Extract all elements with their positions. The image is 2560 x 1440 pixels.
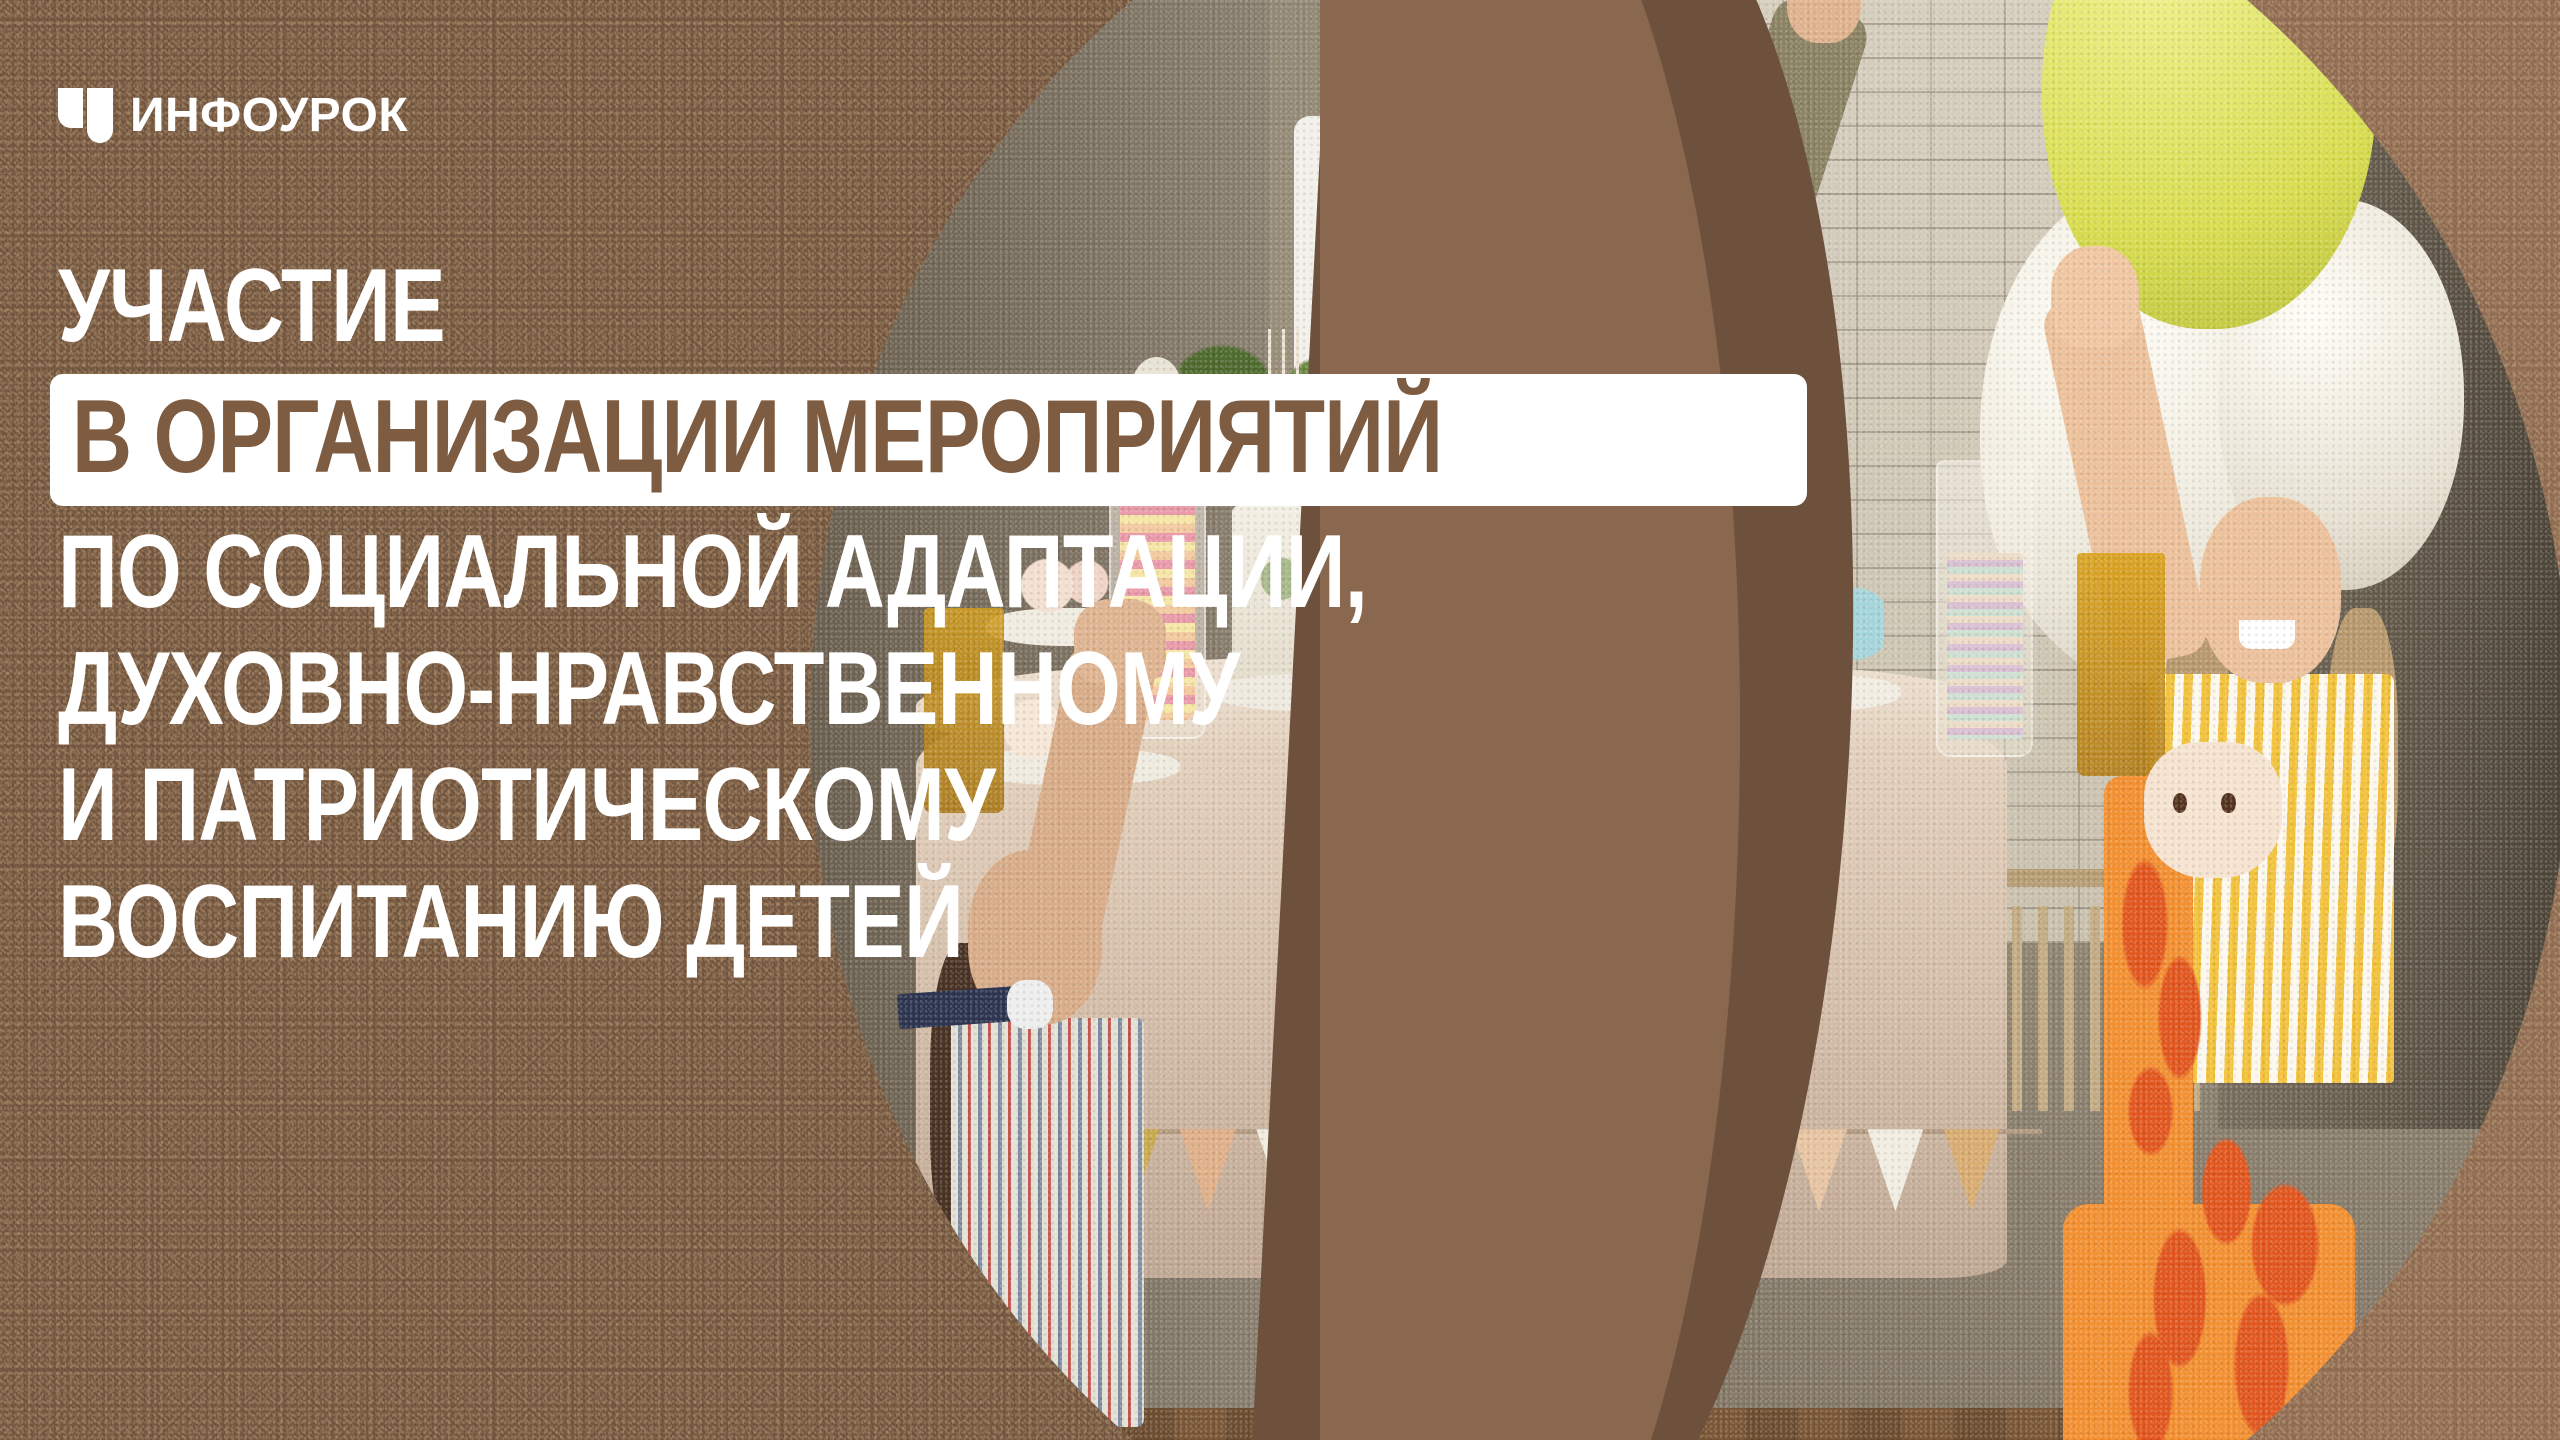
- girl1-smile: [2239, 620, 2295, 650]
- giraffe-cutout-icon: [2007, 776, 2412, 1440]
- headline-line-2: В ОРГАНИЗАЦИИ МЕРОПРИЯТИЙ: [72, 390, 1442, 486]
- headline-line-6: ВОСПИТАНИЮ ДЕТЕЙ: [58, 864, 858, 980]
- infourok-flag-icon: [58, 88, 113, 143]
- headline-highlight-box: В ОРГАНИЗАЦИИ МЕРОПРИЯТИЙ: [50, 374, 1807, 506]
- logo-mark-right: [87, 88, 113, 143]
- bunting-flag: [1867, 1129, 1923, 1211]
- headline-line-4: ДУХОВНО-НРАВСТВЕННОМУ: [58, 631, 858, 747]
- bunting-flag: [1180, 1129, 1236, 1211]
- headline-line-5: И ПАТРИОТИЧЕСКОМУ: [58, 747, 858, 863]
- headline: УЧАСТИЕ В ОРГАНИЗАЦИИ МЕРОПРИЯТИЙ ПО СОЦ…: [58, 248, 1058, 980]
- amber-jar-right: [2077, 553, 2165, 776]
- girl1-head: [2200, 497, 2341, 683]
- logo-mark-left: [58, 88, 83, 128]
- girl2-striped-dress: [951, 1018, 1145, 1427]
- promo-banner: ИНФОУРОК УЧАСТИЕ В ОРГАНИЗАЦИИ МЕРОПРИЯТ…: [0, 0, 2560, 1440]
- brand-name: ИНФОУРОК: [130, 92, 408, 140]
- bunting-flag: [1791, 1129, 1847, 1211]
- giraffe-head: [2144, 742, 2282, 879]
- candy-jar-right-contents: [1947, 553, 2023, 739]
- headline-line-1: УЧАСТИЕ: [58, 248, 858, 364]
- background-curve-mask-light: [1320, 0, 1740, 1440]
- giraffe-eye-right: [2221, 793, 2236, 814]
- bunting-flag: [1944, 1129, 2000, 1211]
- headline-line-3: ПО СОЦИАЛЬНОЙ АДАПТАЦИИ,: [58, 514, 858, 630]
- giraffe-spots: [2063, 844, 2354, 1440]
- girl1-waving-hand: [2051, 246, 2139, 348]
- party-horn-tip-icon: [1007, 980, 1053, 1028]
- brand-logo[interactable]: ИНФОУРОК: [58, 88, 408, 143]
